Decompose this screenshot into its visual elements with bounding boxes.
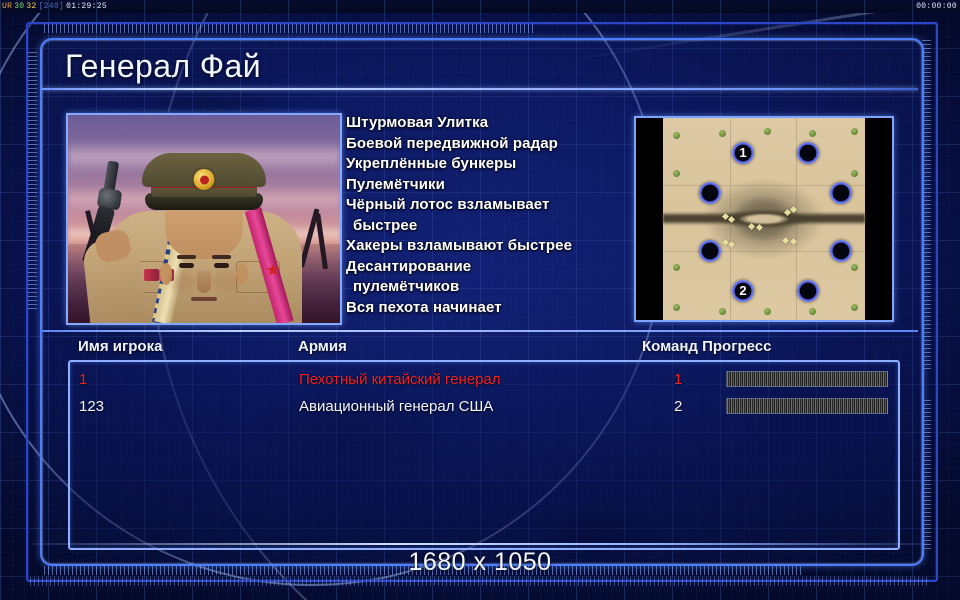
table-row[interactable]: 123Авиационный генерал США2 [70, 395, 898, 418]
minimap-tree-icon [851, 128, 858, 135]
minimap-start-position[interactable] [797, 280, 819, 302]
hud-bar: UR3032[240]01:29:25 00:00:00 [0, 0, 960, 13]
player-name: 123 [79, 395, 104, 418]
minimap-tree-icon [851, 170, 858, 177]
minimap-tree-icon [673, 132, 680, 139]
minimap-tree-icon [851, 304, 858, 311]
progress-bar [726, 371, 888, 387]
ruler-footer [30, 577, 930, 586]
column-header-progress: Команд Прогресс [642, 336, 771, 358]
eye [214, 263, 229, 268]
cheek [169, 271, 195, 291]
minimap-start-label: 2 [732, 280, 754, 302]
player-table-header: Имя игрока Армия Команд Прогресс [42, 336, 918, 358]
minimap-crate-icon [782, 237, 789, 244]
minimap-tree-icon [719, 308, 726, 315]
nose [197, 271, 211, 293]
progress-bar [726, 398, 888, 414]
general-abilities-list: Штурмовая УлиткаБоевой передвижной радар… [346, 113, 630, 321]
player-army: Пехотный китайский генерал [299, 368, 501, 391]
hud-bracket: [240] [38, 2, 66, 11]
eyebrow [177, 255, 196, 259]
game-lobby-screen: UR3032[240]01:29:25 00:00:00 Генерал Фай [0, 0, 960, 600]
ability-item: быстрее [346, 216, 630, 237]
hud-value: 32 [25, 2, 37, 11]
hud-stats: UR3032[240]01:29:25 [1, 0, 108, 13]
title-divider [42, 88, 918, 90]
minimap-tree-icon [809, 308, 816, 315]
minimap-letterbox: 12 [636, 118, 892, 320]
general-portrait [66, 113, 342, 325]
cap-badge-icon [194, 169, 215, 190]
ability-item: Боевой передвижной радар [346, 134, 630, 155]
player-army: Авиационный генерал США [299, 395, 493, 418]
minimap-start-label: 1 [732, 142, 754, 164]
player-slot: 2 [674, 395, 682, 418]
footer-divider [30, 543, 930, 545]
minimap-start-position[interactable] [830, 182, 852, 204]
page-title: Генерал Фай [65, 44, 765, 88]
minimap-tree-icon [809, 130, 816, 137]
minimap-tree-icon [851, 264, 858, 271]
minimap-start-position[interactable] [699, 182, 721, 204]
mouth [191, 297, 217, 301]
ability-item: Штурмовая Улитка [346, 113, 630, 134]
player-list: 1Пехотный китайский генерал1123Авиационн… [68, 360, 900, 550]
hud-fps: 30 [13, 2, 25, 11]
eyebrow [212, 255, 231, 259]
ability-item: Пулемётчики [346, 175, 630, 196]
player-name: 1 [79, 368, 87, 391]
ability-item: Вся пехота начинает [346, 298, 630, 319]
minimap-tree-icon [764, 128, 771, 135]
cheek [213, 271, 239, 291]
column-header-name: Имя игрока [78, 336, 162, 358]
minimap-start-position[interactable]: 1 [732, 142, 754, 164]
minimap-tree-icon [764, 308, 771, 315]
ability-item: Хакеры взламывают быстрее [346, 236, 630, 257]
ability-item: Десантирование [346, 257, 630, 278]
minimap-start-position[interactable] [830, 240, 852, 262]
ruler-top [44, 24, 534, 33]
hud-tag: UR [1, 2, 13, 11]
panel-divider [42, 330, 918, 332]
minimap[interactable]: 12 [634, 116, 894, 322]
hud-clock: 01:29:25 [65, 2, 108, 11]
resolution-label: 1680 x 1050 [0, 548, 960, 577]
medal-ribbon [144, 269, 159, 281]
minimap-tree-icon [719, 130, 726, 137]
minimap-tree-icon [673, 304, 680, 311]
hud-grid [0, 0, 960, 13]
ruler-left [28, 52, 37, 312]
minimap-terrain: 12 [663, 118, 865, 320]
player-slot: 1 [674, 368, 682, 391]
minimap-tree-icon [673, 264, 680, 271]
minimap-start-position[interactable] [699, 240, 721, 262]
minimap-tree-icon [673, 170, 680, 177]
ability-item: пулемётчиков [346, 277, 630, 298]
ability-item: Чёрный лотос взламывает [346, 195, 630, 216]
hud-timer: 00:00:00 [916, 0, 957, 13]
eye [179, 263, 194, 268]
minimap-start-position[interactable]: 2 [732, 280, 754, 302]
minimap-start-position[interactable] [797, 142, 819, 164]
column-header-army: Армия [298, 336, 347, 358]
ability-item: Укреплённые бункеры [346, 154, 630, 175]
table-row[interactable]: 1Пехотный китайский генерал1 [70, 368, 898, 391]
